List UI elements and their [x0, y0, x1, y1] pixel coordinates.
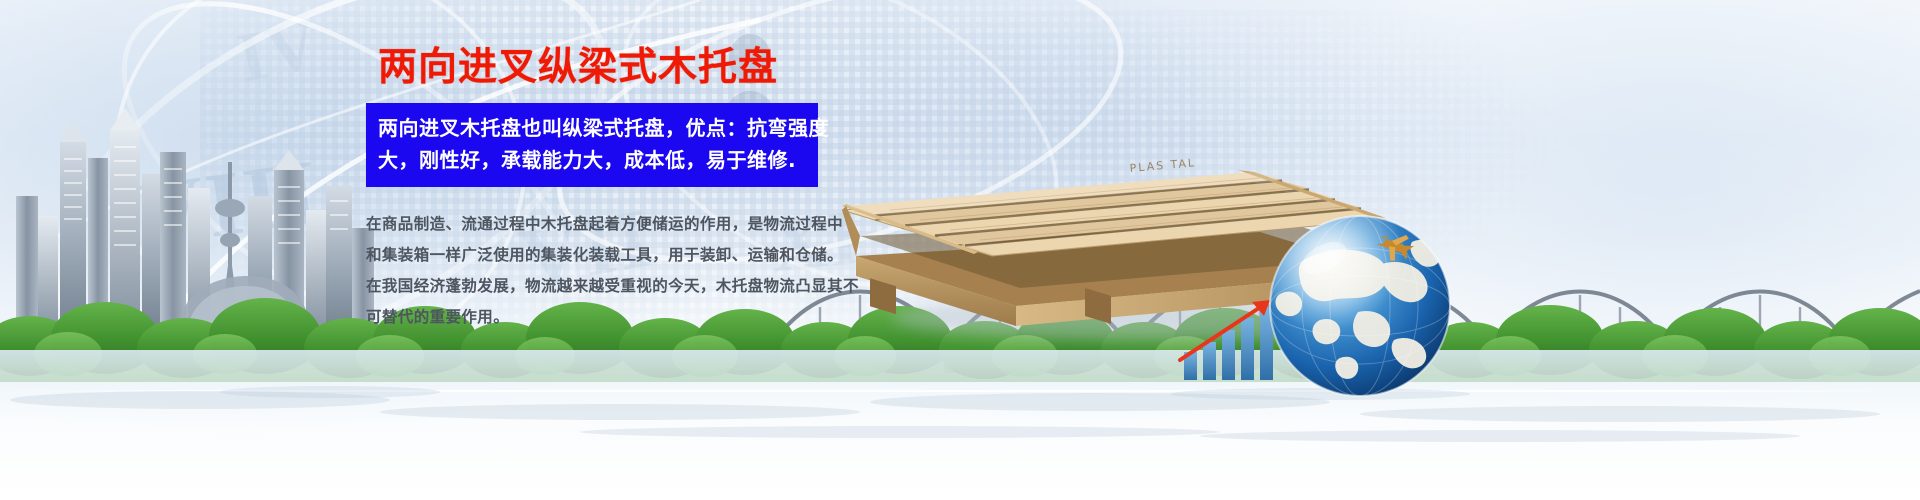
water-reflection-streaks	[0, 380, 1920, 490]
description-line-2: 和集装箱一样广泛使用的集装化装载工具，用于装卸、运输和仓储。	[366, 240, 836, 271]
dot-matrix-pattern-secondary	[860, 10, 1560, 310]
red-up-arrow	[1180, 300, 1270, 360]
highlight-line-1: 两向进叉木托盘也叫纵梁式托盘，优点：抗弯强度	[378, 112, 808, 144]
svg-text:PLAS TAL: PLAS TAL	[1129, 156, 1196, 175]
description-line-3: 在我国经济蓬勃发展，物流越来越受重视的今天，木托盘物流凸显其不	[366, 271, 836, 302]
water-reflection-band	[0, 350, 1920, 500]
arch-bridge-silhouette	[760, 255, 1920, 375]
highlight-callout-box: 两向进叉木托盘也叫纵梁式托盘，优点：抗弯强度 大，刚性好，承载能力大，成本低，易…	[366, 103, 818, 187]
description-line-1: 在商品制造、流通过程中木托盘起着方便储运的作用，是物流过程中	[366, 209, 836, 240]
horizon-highlight-line	[0, 390, 1920, 392]
roman-numeral-viii: VIII	[132, 138, 327, 268]
wooden-pallet-photo: PLAS TAL	[830, 60, 1470, 350]
green-tree-row	[0, 292, 1920, 382]
page-title: 两向进叉纵梁式木托盘	[378, 48, 846, 89]
roman-numeral-iv: IV	[231, 4, 328, 99]
growth-bar-chart	[1178, 300, 1308, 380]
highlight-line-2: 大，刚性好，承载能力大，成本低，易于维修.	[378, 144, 808, 176]
description-line-4: 可替代的重要作用。	[366, 302, 836, 333]
banner-text-block: 两向进叉纵梁式木托盘 两向进叉木托盘也叫纵梁式托盘，优点：抗弯强度 大，刚性好，…	[366, 48, 846, 333]
airplane-icon	[1373, 225, 1417, 267]
city-skyline-silhouette	[0, 100, 420, 360]
product-banner: VIII VII XI IV	[0, 0, 1920, 500]
description-paragraph: 在商品制造、流通过程中木托盘起着方便储运的作用，是物流过程中 和集装箱一样广泛使…	[366, 209, 836, 333]
earth-globe-graphic	[1262, 208, 1458, 404]
background-glow-right	[1320, 0, 1920, 420]
